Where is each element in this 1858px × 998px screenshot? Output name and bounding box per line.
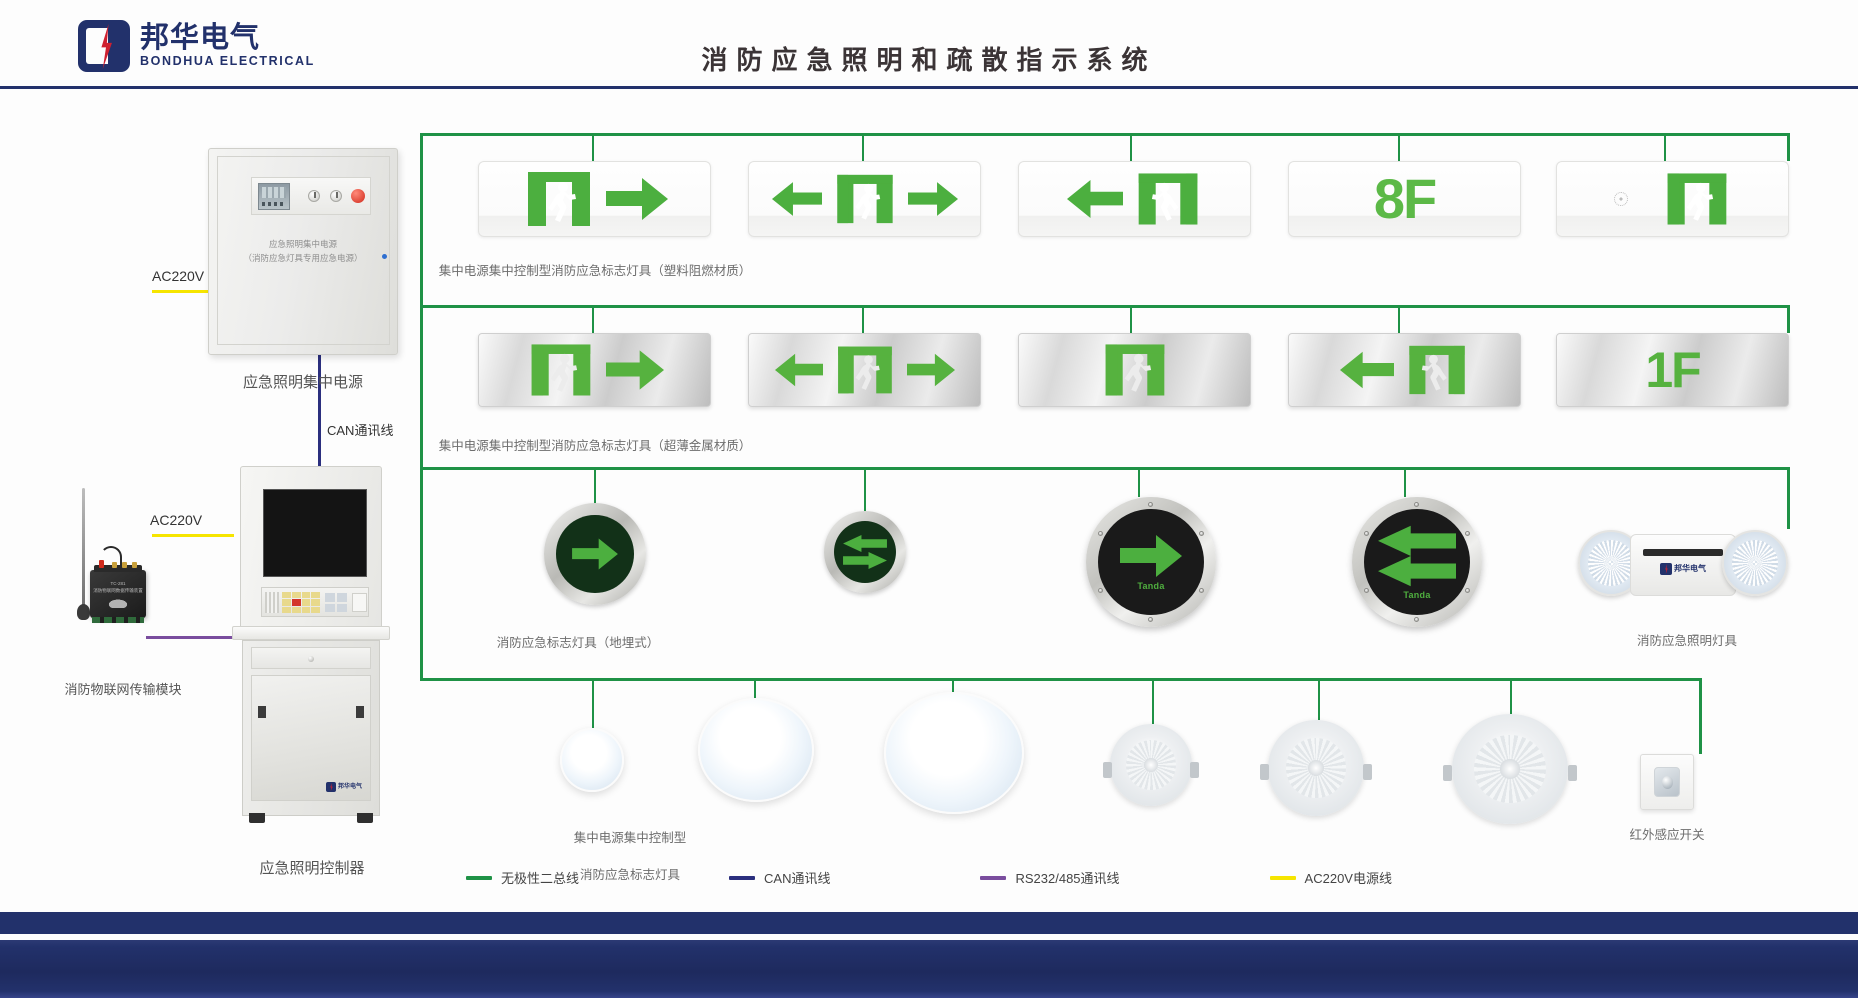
sensor-switch-caption: 红外感应开关 (1592, 826, 1742, 845)
wire-drop-r2-1 (592, 305, 594, 333)
wire-bus-row1 (420, 133, 1790, 136)
ground-light-arrow-left-large[interactable]: Tanda (1352, 497, 1482, 627)
wire-bus-row2 (420, 305, 1790, 308)
legend-swatch-can (729, 876, 755, 880)
lamp-head-right-icon (1722, 530, 1788, 596)
controller-function-keys[interactable] (282, 592, 320, 613)
arrow-right-icon (606, 348, 664, 392)
floor-number-text: 8F (1374, 171, 1435, 227)
running-man-right-icon (522, 170, 596, 228)
twin-light-brand-logo-icon: 邦华电气 (1660, 563, 1706, 575)
legend-label-can: CAN通讯线 (764, 868, 830, 887)
legend-swatch-ac220v (1270, 876, 1296, 880)
arrow-right-icon (606, 176, 668, 222)
arrow-left-icon (1340, 348, 1394, 392)
header-divider (0, 86, 1858, 89)
wire-drop-r3-1 (594, 467, 596, 503)
legend-item-ac220v: AC220V电源线 (1270, 868, 1392, 887)
light-sensor-icon (1614, 192, 1628, 206)
cabinet-red-button[interactable] (351, 189, 365, 203)
sign-exit-right[interactable] (478, 161, 711, 237)
twin-light-brand-cn: 邦华电气 (1674, 565, 1706, 573)
cabinet-knob-2[interactable] (330, 190, 342, 202)
wire-bus-row4-right (1699, 678, 1702, 754)
legend-label-ac220v: AC220V电源线 (1305, 868, 1392, 887)
controller-brand-logo-icon: 邦华电气 (326, 782, 362, 792)
wire-drop-r1-5 (1664, 133, 1666, 161)
wire-drop-r2-3 (1130, 305, 1132, 333)
iot-antenna-icon (82, 488, 85, 608)
cabinet-knob-1[interactable] (308, 190, 320, 202)
power-cabinet-caption: 应急照明集中电源 (193, 372, 413, 395)
downlight-medium[interactable] (1268, 720, 1364, 816)
emergency-lighting-fixture[interactable]: 邦华电气 (1578, 530, 1788, 602)
wire-bus-row3-right (1787, 467, 1790, 529)
wire-drop-r3-3 (1138, 467, 1140, 497)
wire-drop-r4-6 (1510, 678, 1512, 714)
iot-power-pin-icon (99, 560, 104, 568)
wire-drop-r4-2 (754, 678, 756, 698)
wire-drop-r4-3 (952, 678, 954, 692)
cabinet-display-icon (258, 183, 290, 210)
controller-keypad-panel[interactable] (261, 587, 369, 617)
sign-floor-1f-metal[interactable]: 1F (1556, 333, 1789, 407)
controller-screen[interactable] (263, 489, 367, 577)
iot-transmission-module[interactable]: TC-281 消防物联网数据传输装置 (90, 570, 146, 618)
ground-light-arrow-double-small[interactable] (824, 511, 906, 593)
row1-caption: 集中电源集中控制型消防应急标志灯具（塑料阻燃材质） (400, 262, 790, 281)
ground-light-arrow-right-small[interactable] (544, 503, 646, 605)
floor-number-text: 1F (1645, 345, 1699, 395)
running-man-right-icon (832, 172, 898, 226)
wire-drop-r3-2 (864, 467, 866, 511)
wire-drop-r1-1 (592, 133, 594, 161)
legend-item-bus: 无极性二总线 (466, 868, 579, 887)
arrow-left-icon (775, 349, 823, 391)
sign-exit-sensor[interactable] (1556, 161, 1789, 237)
twin-light-vent-icon (1643, 549, 1723, 556)
wire-bus-row1-right (1787, 133, 1790, 161)
twin-light-caption: 消防应急照明灯具 (1592, 632, 1782, 651)
label-ac220v-console: AC220V (150, 512, 202, 528)
downlight-small[interactable] (1110, 724, 1192, 806)
arrow-right-icon (908, 177, 958, 221)
row3-caption: 消防应急标志灯具（地埋式） (438, 634, 718, 653)
running-man-left-icon (1404, 343, 1470, 397)
wire-drop-r2-4 (1398, 305, 1400, 333)
running-man-left-icon (1133, 171, 1203, 227)
emergency-lighting-controller[interactable]: 邦华电气 (232, 466, 390, 836)
footer-accent-bar (0, 912, 1858, 934)
arrow-left-icon (772, 177, 822, 221)
legend-item-can: CAN通讯线 (729, 868, 830, 887)
arrow-right-icon (569, 537, 621, 571)
controller-desk-surface (232, 626, 390, 640)
wire-ac220v-console (152, 534, 234, 537)
arrow-left-double-icon (1378, 524, 1456, 588)
downlight-large[interactable] (1452, 714, 1568, 824)
wire-drop-r4-5 (1318, 678, 1320, 720)
ceiling-light-medium[interactable] (698, 698, 814, 802)
controller-printer-slot (352, 593, 367, 612)
sign-exit-left-right-metal[interactable] (748, 333, 981, 407)
running-man-right-icon (526, 342, 596, 398)
row2-caption: 集中电源集中控制型消防应急标志灯具（超薄金属材质） (400, 437, 790, 456)
legend-swatch-bus (466, 876, 492, 880)
ground-light-brand: Tanda (1403, 590, 1430, 600)
legend-label-bus: 无极性二总线 (501, 868, 579, 887)
legend-label-rs232: RS232/485通讯线 (1015, 868, 1119, 887)
wire-drop-r3-4 (1404, 467, 1406, 497)
sign-exit-right-metal[interactable] (478, 333, 711, 407)
ground-light-brand: Tanda (1137, 581, 1164, 591)
iot-cloud-icon (102, 596, 134, 608)
ceiling-light-large[interactable] (884, 692, 1024, 814)
wire-bus-row3 (420, 467, 1790, 470)
wire-bus-row2-right (1787, 305, 1790, 333)
arrow-double-icon (843, 535, 887, 569)
page-title: 消防应急照明和疏散指示系统 (0, 40, 1858, 77)
wire-drop-r4-1 (592, 678, 594, 728)
wire-rs232-485 (146, 636, 238, 639)
wire-drop-r1-3 (1130, 133, 1132, 161)
sign-exit-left[interactable] (1018, 161, 1251, 237)
wire-bus-riser (420, 133, 423, 680)
running-man-right-icon (833, 344, 897, 396)
controller-drawer[interactable] (251, 647, 371, 669)
wire-ac220v-cabinet (152, 290, 210, 293)
cabinet-status-led-icon (382, 254, 387, 259)
iot-module-caption: 消防物联网传输模块 (38, 680, 208, 700)
controller-lock-icon[interactable] (308, 656, 314, 662)
legend: 无极性二总线 CAN通讯线 RS232/485通讯线 AC220V电源线 (0, 868, 1858, 887)
page-header: 邦华电气 BONDHUA ELECTRICAL 消防应急照明和疏散指示系统 (0, 0, 1858, 88)
footer-band (0, 940, 1858, 998)
emergency-power-cabinet[interactable]: 应急照明集中电源 （消防应急灯具专用应急电源） (208, 148, 398, 355)
sign-exit-plain-metal[interactable] (1018, 333, 1251, 407)
legend-swatch-rs232 (980, 876, 1006, 880)
running-man-right-icon (1100, 342, 1170, 398)
wire-drop-r4-4 (1152, 678, 1154, 724)
label-ac220v-cabinet: AC220V (152, 268, 204, 284)
controller-vent-icon (265, 592, 279, 613)
cabinet-control-panel (251, 177, 371, 215)
sign-floor-8f[interactable]: 8F (1288, 161, 1521, 237)
sign-exit-left-metal[interactable] (1288, 333, 1521, 407)
ceiling-light-small[interactable] (560, 728, 624, 792)
sign-exit-left-right[interactable] (748, 161, 981, 237)
bottom-row-caption: 集中电源集中控制型 消防应急标志灯具 (500, 810, 760, 904)
ground-light-arrow-right-large[interactable]: Tanda (1086, 497, 1216, 627)
wire-drop-r2-2 (862, 305, 864, 333)
diagram-canvas: 邦华电气 BONDHUA ELECTRICAL 消防应急照明和疏散指示系统 AC… (0, 0, 1858, 998)
cabinet-faceplate-text: 应急照明集中电源 （消防应急灯具专用应急电源） (209, 237, 397, 266)
label-can-bus: CAN通讯线 (327, 420, 393, 439)
arrow-left-icon (1067, 176, 1123, 222)
controller-action-keys[interactable] (325, 593, 347, 612)
legend-item-rs232: RS232/485通讯线 (980, 868, 1119, 887)
arrow-right-icon (907, 349, 955, 391)
arrow-right-icon (1112, 533, 1190, 579)
controller-cabinet-door[interactable]: 邦华电气 (251, 675, 371, 801)
infrared-sensor-switch[interactable] (1640, 754, 1694, 810)
running-man-right-icon (1662, 171, 1732, 227)
controller-brand-cn: 邦华电气 (338, 784, 362, 790)
bottom-caption-line1: 集中电源集中控制型 (500, 829, 760, 848)
wire-drop-r1-2 (862, 133, 864, 161)
iot-module-text: TC-281 消防物联网数据传输装置 (90, 580, 146, 594)
wire-drop-r1-4 (1398, 133, 1400, 161)
